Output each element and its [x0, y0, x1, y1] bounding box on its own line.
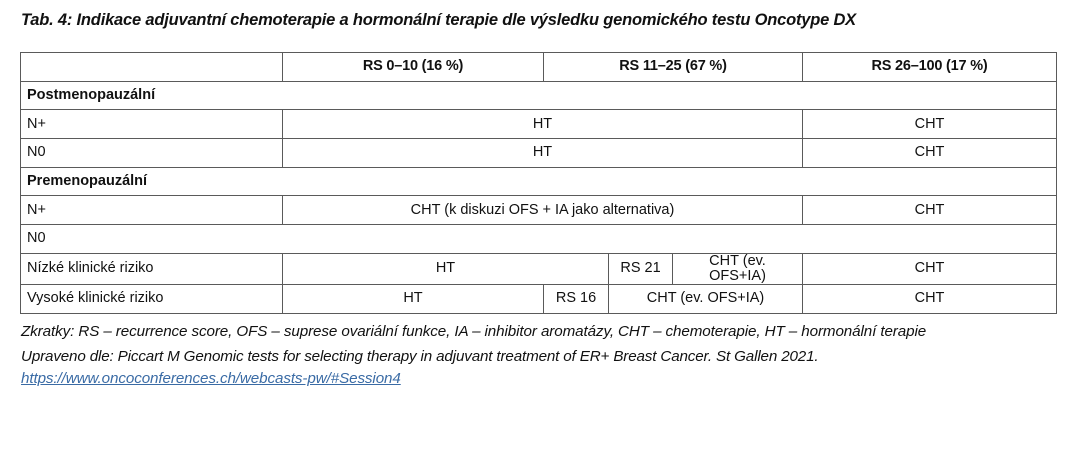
row-label-high-clinical-risk: Vysoké klinické riziko	[21, 285, 283, 314]
abbreviations-note: Zkratky: RS – recurrence score, OFS – su…	[21, 320, 1057, 343]
table-row: N0	[21, 225, 1057, 254]
cell-pre-n-plus-high: CHT	[803, 196, 1057, 225]
table-container: RS 0–10 (16 %) RS 11–25 (67 %) RS 26–100…	[20, 52, 1056, 314]
source-note: Upraveno dle: Piccart M Genomic tests fo…	[21, 345, 1057, 368]
table-row: N0 HT CHT	[21, 139, 1057, 168]
cell-low-risk-rs-cutoff: RS 21	[609, 253, 673, 284]
cell-high-risk-rs-cutoff: RS 16	[544, 285, 609, 314]
cell-high-risk-cht: CHT (ev. OFS+IA)	[609, 285, 803, 314]
source-url-link[interactable]: https://www.oncoconferences.ch/webcasts-…	[21, 368, 401, 391]
cell-high-risk-high: CHT	[803, 285, 1057, 314]
table-row: N+ HT CHT	[21, 110, 1057, 139]
oncotype-indication-table: RS 0–10 (16 %) RS 11–25 (67 %) RS 26–100…	[20, 52, 1057, 314]
table-caption-title: Tab. 4: Indikace adjuvantní chemoterapie…	[21, 11, 1061, 30]
section-header-postmenopausal: Postmenopauzální	[21, 81, 1057, 110]
table-figure-page: Tab. 4: Indikace adjuvantní chemoterapie…	[0, 0, 1078, 450]
header-cell-rs-0-10: RS 0–10 (16 %)	[283, 53, 544, 82]
row-label-pre-n-plus: N+	[21, 196, 283, 225]
cell-low-risk-ht: HT	[283, 253, 609, 284]
row-label-post-n0: N0	[21, 139, 283, 168]
cell-high-risk-ht: HT	[283, 285, 544, 314]
cell-post-n-plus-mid: HT	[283, 110, 803, 139]
header-cell-rs-11-25: RS 11–25 (67 %)	[544, 53, 803, 82]
table-header-row: RS 0–10 (16 %) RS 11–25 (67 %) RS 26–100…	[21, 53, 1057, 82]
table-row: Vysoké klinické riziko HT RS 16 CHT (ev.…	[21, 285, 1057, 314]
cell-low-risk-high: CHT	[803, 253, 1057, 284]
table-row: Nízké klinické riziko HT RS 21 CHT (ev. …	[21, 253, 1057, 284]
section-header-premenopausal: Premenopauzální	[21, 167, 1057, 196]
cell-post-n-plus-high: CHT	[803, 110, 1057, 139]
table-row: Premenopauzální	[21, 167, 1057, 196]
cell-low-risk-cht: CHT (ev. OFS+IA)	[673, 253, 803, 284]
table-row: Postmenopauzální	[21, 81, 1057, 110]
table-footnotes: Zkratky: RS – recurrence score, OFS – su…	[21, 320, 1057, 391]
table-row: N+ CHT (k diskuzi OFS + IA jako alternat…	[21, 196, 1057, 225]
row-label-low-clinical-risk: Nízké klinické riziko	[21, 253, 283, 284]
cell-pre-n-plus-mid: CHT (k diskuzi OFS + IA jako alternativa…	[283, 196, 803, 225]
header-cell-blank	[21, 53, 283, 82]
row-label-pre-n0: N0	[21, 225, 1057, 254]
header-cell-rs-26-100: RS 26–100 (17 %)	[803, 53, 1057, 82]
cell-post-n0-mid: HT	[283, 139, 803, 168]
cell-post-n0-high: CHT	[803, 139, 1057, 168]
row-label-post-n-plus: N+	[21, 110, 283, 139]
